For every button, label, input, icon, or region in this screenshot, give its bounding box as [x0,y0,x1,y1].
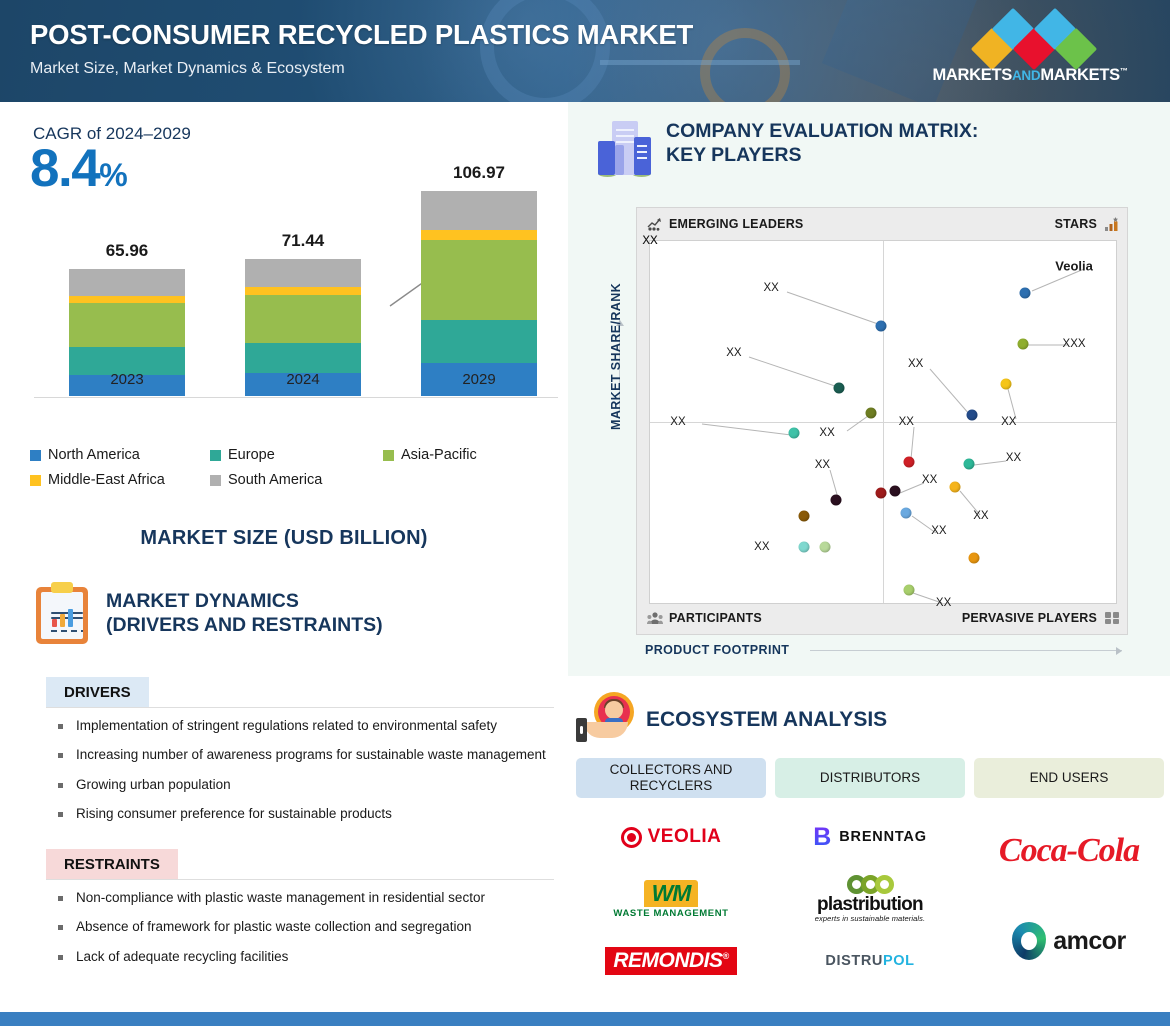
matrix-point-16[interactable] [798,541,809,552]
plastribution-ring-3 [875,875,894,894]
drivers-list: Implementation of stringent regulations … [58,717,558,835]
ecosystem-column-header-end-users: END USERS [974,758,1164,798]
matrix-point-label-2: XX [670,416,685,428]
legend-label-middle-east-africa: Middle-East Africa [48,472,165,488]
bar-segment-2024-1 [245,343,361,373]
market-size-heading: MARKET SIZE (USD BILLION) [0,527,568,550]
ecosystem-logos-end-users: Coca-Cola amcor [974,806,1164,986]
matrix-point-15[interactable] [901,507,912,518]
logo-remondis: REMONDIS® [576,930,766,992]
bar-total-2023: 65.96 [57,241,197,261]
restraint-text: Lack of adequate recycling facilities [76,948,288,966]
matrix-point-label-6: XX [1001,416,1016,428]
building-window-1 [616,129,634,131]
matrix-point-4[interactable] [1020,288,1031,299]
list-item: Increasing number of awareness programs … [58,746,558,764]
bullet-icon [58,753,63,758]
building-window-3 [616,141,634,143]
bar-total-2024: 71.44 [233,231,373,251]
quadrant-label-stars: STARS [1055,217,1119,231]
legend-label-north-america: North America [48,447,140,463]
quadrant-label-emerging-leaders: EMERGING LEADERS [647,217,803,231]
drivers-divider [46,707,554,708]
matrix-point-2[interactable] [789,427,800,438]
quadrant-label-pervasive-players: PERVASIVE PLAYERS [962,611,1119,625]
ecosystem-column-collectors: COLLECTORS AND RECYCLERS VEOLIA WM WASTE… [576,758,766,992]
matrix-point-label-4: Veolia [1055,259,1093,274]
matrix-x-axis-label: PRODUCT FOOTPRINT [645,643,789,657]
matrix-point-19[interactable] [903,585,914,596]
matrix-title-line2: KEY PLAYERS [666,143,978,167]
matrix-point-label-3: XX [819,427,834,439]
legend-row-2: Middle-East Africa South America [30,472,550,488]
bar-xlabel-2023: 2023 [69,371,185,388]
clipboard-paper [41,592,83,639]
matrix-point-label-7: XX [908,358,923,370]
matrix-point-label-8: XX [899,416,914,428]
marketsandmarkets-logo: MARKETSANDMARKETS™ [930,18,1130,88]
matrix-point-label-5: XXX [1063,338,1086,350]
legend-item-south-america: South America [210,472,322,488]
list-item: Implementation of stringent regulations … [58,717,558,735]
matrix-x-axis-arrow [810,650,1122,651]
matrix-bottom-bar: PARTICIPANTS PERVASIVE PLAYERS [637,602,1129,634]
growth-chart-icon [647,217,662,231]
distrupol-part2: POL [883,953,915,969]
header-decoration-circle [480,0,610,102]
clipboard-bar-2 [60,614,65,627]
footer-bar [0,1012,1170,1026]
bar-group-2023: 65.96 2023 [69,269,185,396]
plastribution-tagline: experts in sustainable materials. [815,914,925,923]
chart-baseline [34,397,558,398]
coca-cola-wordmark: Coca-Cola [999,832,1139,870]
ecosystem-title: ECOSYSTEM ANALYSIS [646,708,887,732]
logo-word-markets-1: MARKETS [932,66,1011,84]
matrix-title: COMPANY EVALUATION MATRIX: KEY PLAYERS [666,119,978,167]
bullet-icon [58,925,63,930]
driver-text: Rising consumer preference for sustainab… [76,805,392,823]
legend-swatch-south-america [210,475,221,486]
bar-segment-2029-3 [421,230,537,240]
matrix-horizontal-divider [650,422,1116,423]
restraint-text: Non-compliance with plastic waste manage… [76,889,485,907]
bullet-icon [58,955,63,960]
logo-plastribution: plastribution experts in sustainable mat… [775,868,965,930]
matrix-point-7[interactable] [966,409,977,420]
logo-distrupol: DISTRUPOL [775,930,965,992]
star-bars-icon [1104,217,1119,231]
building-icon [596,119,652,177]
legend-item-middle-east-africa: Middle-East Africa [30,472,210,488]
logo-brenntag: B BRENNTAG [775,806,965,868]
amcor-wordmark: amcor [1053,927,1126,956]
page-header: POST-CONSUMER RECYCLED PLASTICS MARKET M… [0,0,1170,102]
driver-text: Increasing number of awareness programs … [76,746,546,764]
bullet-icon [58,724,63,729]
restraints-divider [46,879,554,880]
building-window-2 [616,135,634,137]
market-dynamics-title: MARKET DYNAMICS (DRIVERS AND RESTRAINTS) [106,589,383,637]
brenntag-wordmark: BRENNTAG [839,829,927,845]
market-dynamics-title-line2: (DRIVERS AND RESTRAINTS) [106,613,383,637]
chart-legend: North America Europe Asia-Pacific Middle… [30,447,550,497]
matrix-point-label-11: XX [815,459,830,471]
legend-label-south-america: South America [228,472,322,488]
page-subtitle: Market Size, Market Dynamics & Ecosystem [30,60,345,78]
distrupol-wordmark: DISTRUPOL [825,953,914,969]
ecosystem-column-distributors: DISTRIBUTORS B BRENNTAG pl [775,758,965,992]
matrix-point-17[interactable] [819,541,830,552]
logo-trademark: ™ [1120,67,1128,76]
matrix-point-10[interactable] [950,482,961,493]
logo-amcor: amcor [974,896,1164,986]
driver-text: Implementation of stringent regulations … [76,717,497,735]
bar-segment-2029-2 [421,240,537,320]
logo-diamonds [930,18,1130,60]
legend-label-europe: Europe [228,447,275,463]
bar-total-2029: 106.97 [409,163,549,183]
veolia-logo-group: VEOLIA [621,826,722,848]
building-tower-right [634,137,651,175]
matrix-point-label-18: XX [642,235,657,247]
driver-text: Growing urban population [76,776,231,794]
matrix-leader-lines [650,241,1118,605]
logo-word-markets-2: MARKETS [1040,66,1119,84]
logo-veolia: VEOLIA [576,806,766,868]
veolia-wordmark: VEOLIA [648,826,722,848]
quadrant-text-emerging-leaders: EMERGING LEADERS [669,217,803,231]
matrix-point-13[interactable] [875,487,886,498]
plastribution-logo-group: plastribution experts in sustainable mat… [815,875,925,923]
legend-label-asia-pacific: Asia-Pacific [401,447,477,463]
legend-swatch-middle-east-africa [30,475,41,486]
matrix-chart-box: EMERGING LEADERS STARS [636,207,1128,635]
building-window-4 [637,145,647,147]
matrix-point-1[interactable] [833,382,844,393]
bar-group-2024: 71.44 2024 [245,259,361,396]
analyst-hand-icon [576,692,634,748]
quadrant-text-participants: PARTICIPANTS [669,611,762,625]
building-tower-left [598,141,615,175]
quadrant-text-stars: STARS [1055,217,1097,231]
ecosystem-header: ECOSYSTEM ANALYSIS [576,692,887,748]
ecosystem-logos-distributors: B BRENNTAG plastribution experts in sust… [775,806,965,992]
left-panel: CAGR of 2024–2029 8.4% 65.96 2023 71.44 … [0,102,568,982]
list-item: Rising consumer preference for sustainab… [58,805,558,823]
market-size-bar-chart: 65.96 2023 71.44 2024 106.97 2029 [20,172,560,432]
bullet-icon [58,783,63,788]
matrix-point-label-1: XX [726,347,741,359]
bar-segment-2023-4 [69,269,185,296]
amcor-logo-group: amcor [1012,922,1126,960]
bar-xlabel-2024: 2024 [245,371,361,388]
legend-item-europe: Europe [210,447,383,463]
page-title: POST-CONSUMER RECYCLED PLASTICS MARKET [30,19,693,51]
matrix-point-14[interactable] [889,485,900,496]
matrix-point-5[interactable] [1017,339,1028,350]
ecosystem-logos-collectors: VEOLIA WM WASTE MANAGEMENT REMONDIS® [576,806,766,992]
matrix-point-8[interactable] [903,456,914,467]
bar-segment-2024-3 [245,287,361,294]
remondis-text: REMONDIS [613,949,722,972]
distrupol-part1: DISTRU [825,953,883,969]
restraint-text: Absence of framework for plastic waste c… [76,918,471,936]
restraints-list: Non-compliance with plastic waste manage… [58,889,558,977]
analyst-hand [584,722,628,738]
list-item: Absence of framework for plastic waste c… [58,918,558,936]
plastribution-wordmark: plastribution [815,895,925,914]
amcor-mark-icon [1012,922,1046,960]
remondis-wordmark: REMONDIS® [605,947,736,975]
list-item: Non-compliance with plastic waste manage… [58,889,558,907]
matrix-top-bar: EMERGING LEADERS STARS [637,208,1129,240]
wm-mark: WM [644,880,699,907]
list-item: Lack of adequate recycling facilities [58,948,558,966]
matrix-point-11[interactable] [831,494,842,505]
matrix-y-axis-label: MARKET SHARE/RANK [609,283,623,430]
bar-segment-2024-4 [245,259,361,288]
restraints-tag: RESTRAINTS [46,849,178,879]
matrix-point-18[interactable] [968,552,979,563]
puzzle-icon [1104,611,1119,625]
ecosystem-column-header-collectors: COLLECTORS AND RECYCLERS [576,758,766,798]
ecosystem-column-header-distributors: DISTRIBUTORS [775,758,965,798]
logo-coca-cola: Coca-Cola [974,806,1164,896]
market-dynamics-header: MARKET DYNAMICS (DRIVERS AND RESTRAINTS) [36,582,383,644]
legend-swatch-europe [210,450,221,461]
legend-swatch-north-america [30,450,41,461]
legend-item-asia-pacific: Asia-Pacific [383,447,477,463]
building-window-6 [637,157,647,159]
matrix-point-label-10: XX [973,510,988,522]
matrix-point-label-14: XX [922,474,937,486]
analyst-face [605,701,623,719]
header-decoration-circle-2 [700,28,790,102]
logo-word-and: AND [1012,68,1040,83]
bar-group-2029: 106.97 2029 [421,191,537,396]
remondis-registered-icon: ® [723,951,729,961]
ecosystem-columns: COLLECTORS AND RECYCLERS VEOLIA WM WASTE… [576,758,1166,992]
market-dynamics-title-line1: MARKET DYNAMICS [106,589,383,613]
matrix-plot-area: XXXXXXXXVeoliaXXXXXXXXXXXXXXXXXXXXXXXXXX… [649,240,1117,604]
legend-item-north-america: North America [30,447,210,463]
matrix-point-label-15: XX [931,525,946,537]
bullet-icon [58,812,63,817]
logo-waste-management: WM WASTE MANAGEMENT [576,868,766,930]
wm-wordmark: WASTE MANAGEMENT [613,908,728,919]
matrix-point-6[interactable] [1001,378,1012,389]
bar-xlabel-2029: 2029 [421,371,537,388]
veolia-mark-icon [621,827,642,848]
list-item: Growing urban population [58,776,558,794]
plastribution-rings-icon [815,875,925,894]
matrix-title-line1: COMPANY EVALUATION MATRIX: [666,119,978,143]
clipboard-clip [51,582,73,593]
wm-logo-group: WM WASTE MANAGEMENT [613,880,728,919]
bar-segment-2023-2 [69,303,185,347]
people-icon [647,611,662,625]
matrix-point-0[interactable] [875,321,886,332]
drivers-tag: DRIVERS [46,677,149,707]
phone-icon [576,718,587,742]
matrix-header: COMPANY EVALUATION MATRIX: KEY PLAYERS [596,119,978,177]
clipboard-bar-1 [52,619,57,627]
ecosystem-column-end-users: END USERS Coca-Cola amcor [974,758,1164,992]
matrix-point-label-20: XX [754,541,769,553]
bar-stack-2029 [421,191,537,396]
building-tower-inner [615,145,624,175]
clipboard-bar-3 [68,609,73,627]
matrix-point-3[interactable] [866,407,877,418]
clipboard-icon [36,582,88,644]
brenntag-mark-icon: B [813,823,831,852]
matrix-point-label-0: XX [763,282,778,294]
matrix-point-label-9: XX [1006,452,1021,464]
header-decoration-line [600,60,800,65]
legend-swatch-asia-pacific [383,450,394,461]
logo-wordmark: MARKETSANDMARKETS™ [930,66,1130,85]
bar-segment-2024-2 [245,295,361,343]
quadrant-label-participants: PARTICIPANTS [647,611,762,625]
clipboard-dashed-line [51,630,83,632]
clipboard-line-1 [51,612,83,614]
matrix-point-12[interactable] [798,511,809,522]
legend-row-1: North America Europe Asia-Pacific [30,447,550,463]
building-window-5 [637,151,647,153]
bar-segment-2029-1 [421,320,537,363]
quadrant-text-pervasive-players: PERVASIVE PLAYERS [962,611,1097,625]
matrix-point-9[interactable] [964,458,975,469]
bar-segment-2029-4 [421,191,537,230]
bullet-icon [58,896,63,901]
ecosystem-panel: ECOSYSTEM ANALYSIS COLLECTORS AND RECYCL… [568,676,1170,982]
brenntag-logo-group: B BRENNTAG [813,823,927,852]
